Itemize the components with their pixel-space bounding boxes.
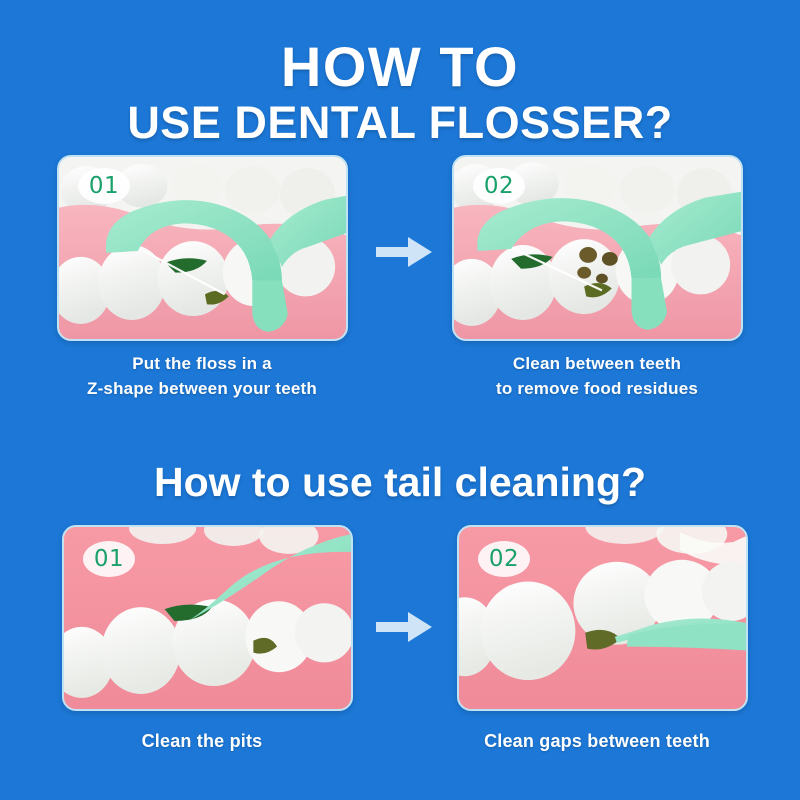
step-badge-2: 02 [473,168,525,204]
step-caption-1: Put the floss in a Z-shape between your … [42,352,362,401]
step-panel-2-image: 02 [452,155,743,341]
step-badge-4: 02 [478,541,530,577]
main-title-line-2: USE DENTAL FLOSSER? [0,95,800,151]
step-caption-4-line-1: Clean gaps between teeth [437,728,757,754]
step-caption-2-line-1: Clean between teeth [437,352,757,377]
step-badge-3: 01 [83,541,135,577]
main-title-line-1: HOW TO [0,38,800,95]
section-2-title: How to use tail cleaning? [0,459,800,506]
step-caption-2: Clean between teeth to remove food resid… [437,352,757,401]
step-panel-4-image: 02 [457,525,748,711]
step-badge-1: 01 [78,168,130,204]
step-caption-2-line-2: to remove food residues [437,377,757,402]
infographic-page: HOW TO USE DENTAL FLOSSER? [0,0,800,800]
step-caption-1-line-1: Put the floss in a [42,352,362,377]
step-panel-1-image: 01 [57,155,348,341]
step-caption-3-line-1: Clean the pits [42,728,362,754]
step-caption-3: Clean the pits [42,728,362,754]
step-panel-3-image: 01 [62,525,353,711]
step-caption-1-line-2: Z-shape between your teeth [42,377,362,402]
arrow-right-icon-1 [376,235,432,269]
main-title: HOW TO USE DENTAL FLOSSER? [0,38,800,151]
step-caption-4: Clean gaps between teeth [437,728,757,754]
arrow-right-icon-2 [376,610,432,644]
